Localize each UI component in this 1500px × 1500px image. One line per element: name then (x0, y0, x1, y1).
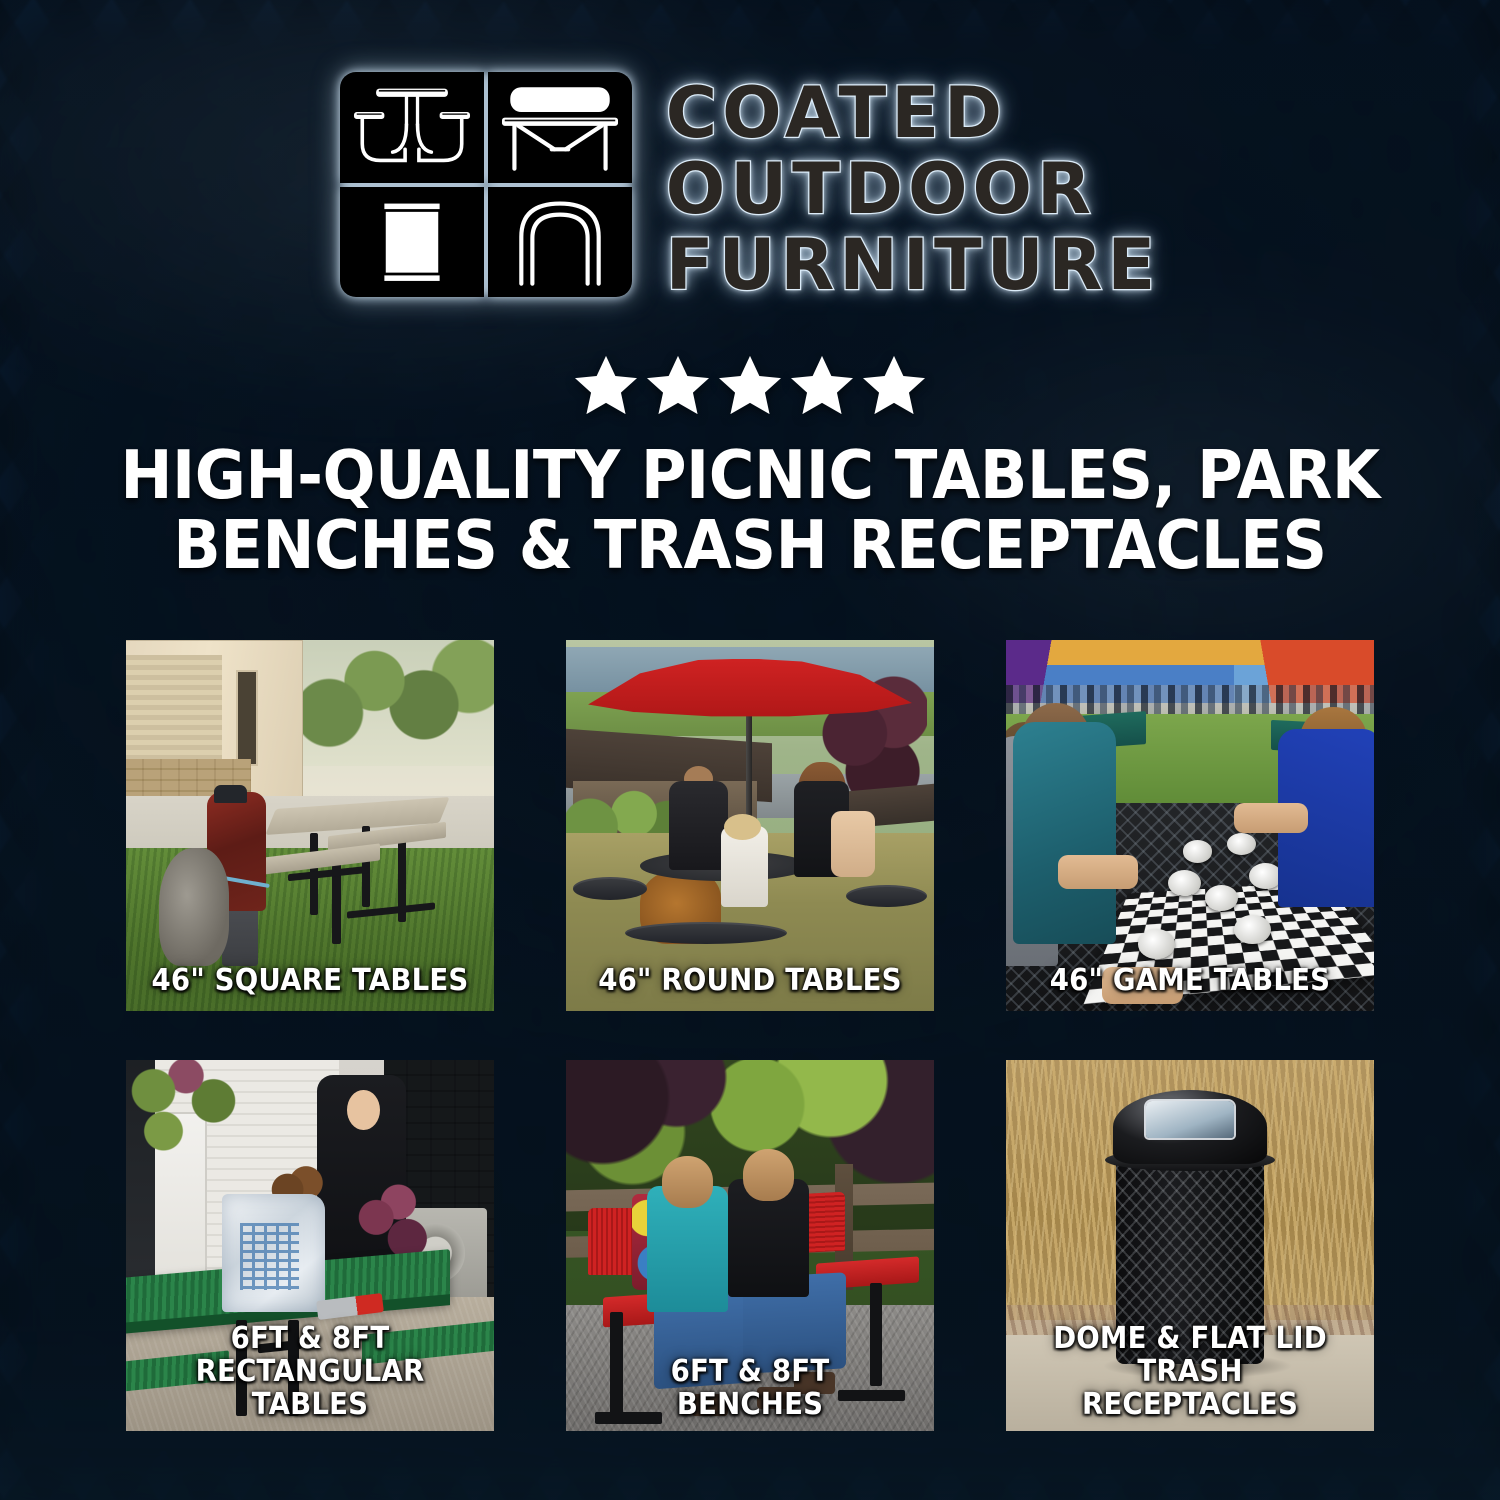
promo-banner: COATED OUTDOOR FURNITURE HIGH-QUALITY PI… (0, 0, 1500, 1500)
headline-line-1: HIGH-QUALITY PICNIC TABLES, PARK (108, 440, 1391, 510)
star-icon (863, 355, 925, 415)
arch-bike-rack-icon (488, 187, 632, 298)
star-icon (719, 355, 781, 415)
product-caption: 6FT & 8FT BENCHES (586, 1355, 914, 1421)
picnic-table-icon (340, 72, 484, 183)
star-icon (791, 355, 853, 415)
product-card-round-tables[interactable]: 46" ROUND TABLES (566, 640, 934, 1011)
product-photo-square-tables (126, 640, 494, 1011)
star-icon (647, 355, 709, 415)
trash-receptacle-icon (340, 187, 484, 298)
brand-logo-mark (340, 72, 632, 297)
product-card-rectangular-tables[interactable]: 6FT & 8FT RECTANGULAR TABLES (126, 1060, 494, 1431)
product-card-game-tables[interactable]: 46" GAME TABLES (1006, 640, 1374, 1011)
product-category-grid: 46" SQUARE TABLES (126, 640, 1374, 1431)
park-bench-icon (488, 72, 632, 183)
product-caption: 46" ROUND TABLES (586, 964, 914, 997)
brand-logo-line-2: OUTDOOR (666, 152, 1161, 226)
star-rating (0, 355, 1500, 415)
product-card-trash-receptacles[interactable]: DOME & FLAT LID TRASH RECEPTACLES (1006, 1060, 1374, 1431)
product-caption: 46" SQUARE TABLES (146, 964, 474, 997)
page-headline: HIGH-QUALITY PICNIC TABLES, PARK BENCHES… (60, 440, 1440, 580)
star-icon (575, 355, 637, 415)
product-card-benches[interactable]: 6FT & 8FT BENCHES (566, 1060, 934, 1431)
brand-logo-text: COATED OUTDOOR FURNITURE (666, 72, 1161, 302)
brand-logo-line-3: FURNITURE (666, 228, 1161, 302)
product-photo-game-tables (1006, 640, 1374, 1011)
product-card-square-tables[interactable]: 46" SQUARE TABLES (126, 640, 494, 1011)
product-caption: 6FT & 8FT RECTANGULAR TABLES (146, 1322, 474, 1421)
brand-logo-line-1: COATED (666, 76, 1161, 150)
product-caption: DOME & FLAT LID TRASH RECEPTACLES (1026, 1322, 1354, 1421)
product-photo-round-tables (566, 640, 934, 1011)
headline-line-2: BENCHES & TRASH RECEPTACLES (108, 510, 1391, 580)
brand-logo: COATED OUTDOOR FURNITURE (0, 72, 1500, 302)
product-caption: 46" GAME TABLES (1026, 964, 1354, 997)
